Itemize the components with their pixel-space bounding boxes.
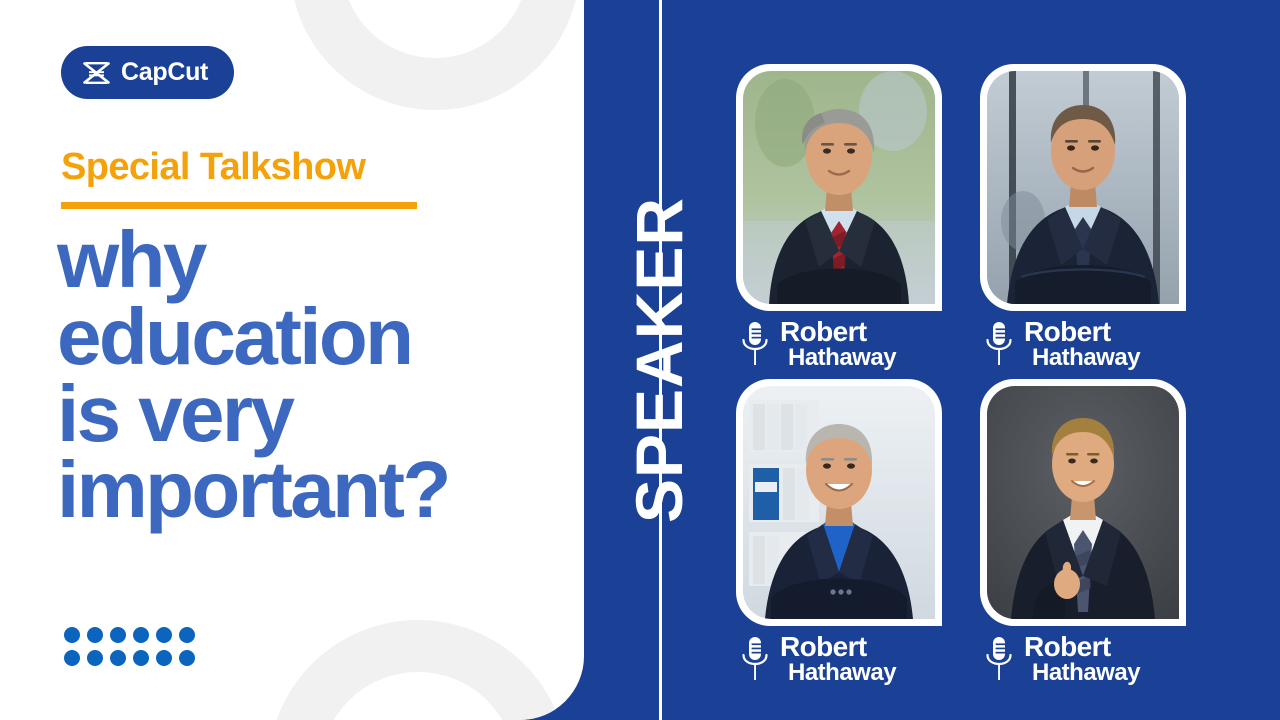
headline-line-2: education — [57, 299, 577, 376]
speaker-nameplate: Robert Hathaway — [740, 318, 896, 370]
kicker-text: Special Talkshow — [61, 146, 365, 189]
kicker-underline — [61, 202, 417, 209]
dot — [156, 650, 172, 666]
speaker-photo — [743, 386, 935, 619]
speaker-photo-frame — [980, 64, 1186, 311]
microphone-icon — [984, 635, 1014, 683]
speaker-nameplate: Robert Hathaway — [984, 318, 1140, 370]
speaker-first-name: Robert — [780, 633, 896, 661]
speaker-grid: Robert Hathaway — [736, 64, 1216, 674]
dot — [133, 650, 149, 666]
dot — [87, 650, 103, 666]
speaker-photo — [743, 71, 935, 304]
dot — [179, 627, 195, 643]
dot — [87, 627, 103, 643]
speaker-card[interactable]: Robert Hathaway — [736, 64, 942, 311]
speaker-photo — [987, 386, 1179, 619]
speaker-nameplate: Robert Hathaway — [984, 633, 1140, 685]
speaker-first-name: Robert — [780, 318, 896, 346]
speaker-first-name: Robert — [1024, 318, 1140, 346]
headline-line-1: why — [57, 222, 577, 299]
dot — [133, 627, 149, 643]
speaker-photo-frame — [736, 64, 942, 311]
page-title: why education is very important? — [57, 222, 577, 529]
headline-line-4: important? — [57, 452, 577, 529]
headline-line-3: is very — [57, 376, 577, 453]
dot — [110, 650, 126, 666]
capcut-brand-label: CapCut — [121, 58, 208, 87]
decorative-ring-top — [290, 0, 580, 110]
speaker-last-name: Hathaway — [1024, 346, 1140, 370]
speaker-section-label: SPEAKER — [621, 197, 697, 523]
decorative-dot-grid — [64, 627, 195, 666]
dot — [64, 650, 80, 666]
dot — [110, 627, 126, 643]
capcut-logo-icon — [83, 62, 110, 84]
microphone-icon — [740, 320, 770, 368]
microphone-icon — [740, 635, 770, 683]
decorative-ring-bottom — [268, 620, 568, 720]
speaker-last-name: Hathaway — [780, 661, 896, 685]
speaker-card[interactable]: Robert Hathaway — [980, 64, 1186, 311]
capcut-brand-badge[interactable]: CapCut — [61, 46, 234, 99]
dot — [156, 627, 172, 643]
speaker-photo — [987, 71, 1179, 304]
dot — [179, 650, 195, 666]
speaker-photo-frame — [980, 379, 1186, 626]
poster-canvas: CapCut Special Talkshow why education is… — [0, 0, 1280, 720]
microphone-icon — [984, 320, 1014, 368]
speaker-nameplate: Robert Hathaway — [740, 633, 896, 685]
dot — [64, 627, 80, 643]
speaker-card[interactable]: Robert Hathaway — [980, 379, 1186, 626]
speaker-last-name: Hathaway — [780, 346, 896, 370]
speaker-card[interactable]: Robert Hathaway — [736, 379, 942, 626]
speaker-first-name: Robert — [1024, 633, 1140, 661]
speaker-last-name: Hathaway — [1024, 661, 1140, 685]
speaker-photo-frame — [736, 379, 942, 626]
